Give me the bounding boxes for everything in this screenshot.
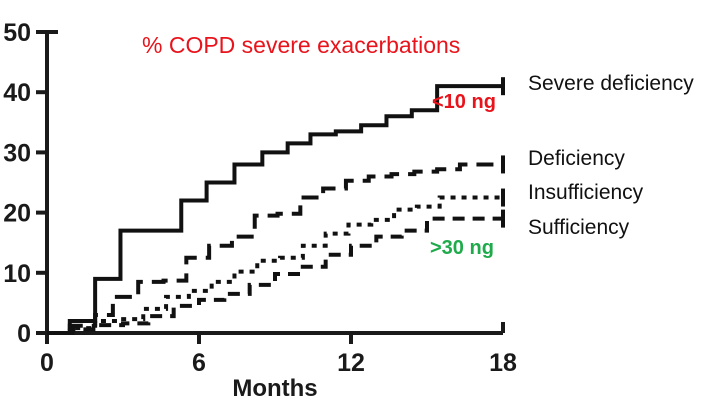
series-label-insufficiency: Insufficiency <box>528 181 644 204</box>
y-tick-label-50: 50 <box>3 19 31 47</box>
x-axis-tick-labels: 061218 <box>40 349 517 377</box>
series-label-sufficiency: Sufficiency <box>528 216 630 239</box>
series-label-deficiency: Deficiency <box>528 147 625 170</box>
annotation-high-threshold: >30 ng <box>430 237 494 259</box>
y-axis-tick-labels: 01020304050 <box>3 19 31 348</box>
x-tick-label-12: 12 <box>337 349 365 377</box>
series-label-severe-deficiency: Severe deficiency <box>528 72 694 95</box>
x-tick-label-0: 0 <box>40 349 54 377</box>
series-curves <box>47 77 503 333</box>
series-labels: Severe deficiencyDeficiencyInsufficiency… <box>528 72 694 239</box>
y-tick-label-40: 40 <box>3 79 31 107</box>
x-axis-title: Months <box>232 375 317 402</box>
annotation-low-threshold: <10 ng <box>432 91 496 113</box>
y-tick-label-30: 30 <box>3 139 31 167</box>
y-tick-label-10: 10 <box>3 260 31 288</box>
y-tick-label-20: 20 <box>3 200 31 228</box>
chart-title: % COPD severe exacerbations <box>142 32 460 58</box>
y-tick-label-0: 0 <box>17 320 31 348</box>
step-chart-canvas: % COPD severe exacerbations 01020304050 … <box>0 0 714 406</box>
x-tick-label-18: 18 <box>489 349 517 377</box>
chart-annotations: <10 ng>30 ng <box>430 91 496 259</box>
series-line-sufficiency <box>47 219 503 333</box>
x-tick-label-6: 6 <box>192 349 206 377</box>
chart-figure: % COPD severe exacerbations 01020304050 … <box>0 0 714 406</box>
